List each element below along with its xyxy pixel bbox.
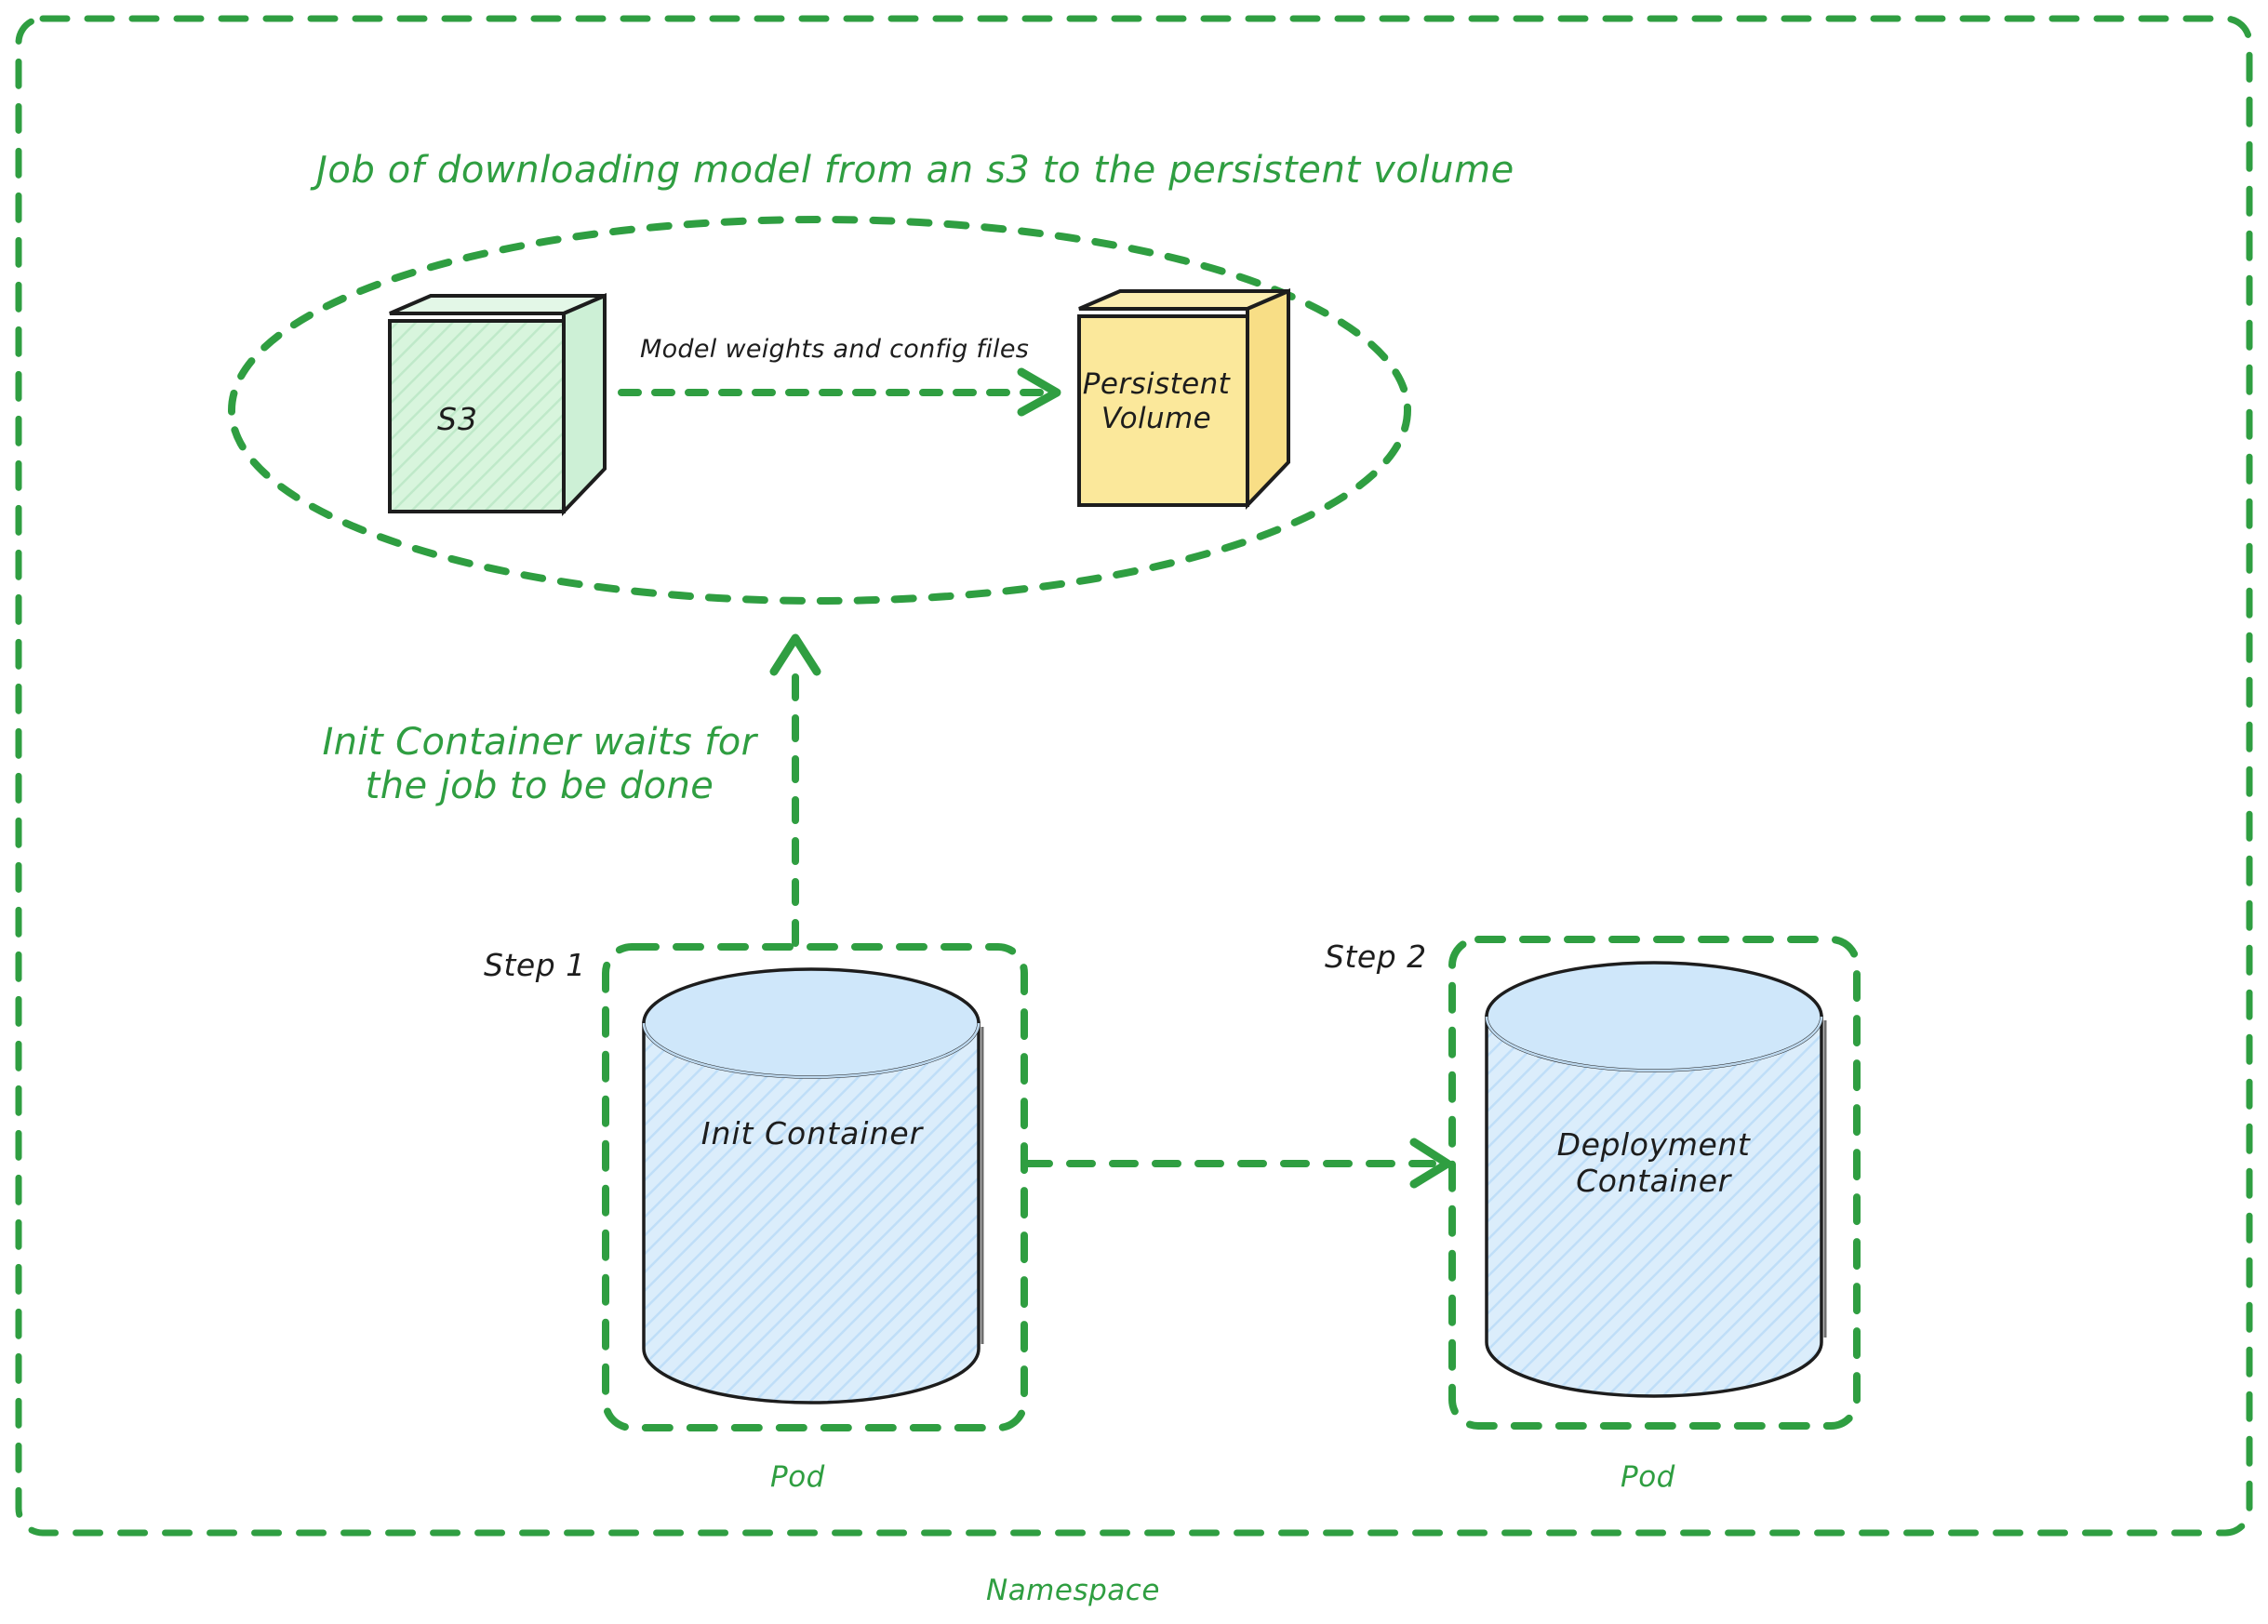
init-container-wait-note: Init Container waits for the job to be d… (288, 721, 791, 808)
job-group-title: Job of downloading model from an s3 to t… (316, 149, 1514, 193)
pod-2-label: Pod (1621, 1460, 1675, 1495)
edge-pod1-to-pod2 (1027, 1142, 1448, 1184)
edge-label-model-weights: Model weights and config files (640, 335, 1029, 365)
persistent-volume-node-label: Persistent Volume (1077, 367, 1235, 435)
init-container-cylinder-icon (644, 969, 982, 1403)
diagram-vector-layer (0, 0, 2268, 1624)
pod-1-step-label: Step 1 (484, 948, 586, 984)
deployment-container-label: Deployment Container (1479, 1127, 1828, 1200)
pod-2-step-label: Step 2 (1325, 939, 1427, 976)
s3-node-label: S3 (437, 402, 478, 438)
init-container-label: Init Container (631, 1116, 994, 1152)
pod-1-label: Pod (770, 1460, 825, 1495)
s3-cube-icon (390, 296, 605, 512)
namespace-label: Namespace (986, 1574, 1160, 1608)
diagram-canvas: Job of downloading model from an s3 to t… (0, 0, 2268, 1624)
edge-s3-to-persistent-volume (621, 372, 1057, 412)
